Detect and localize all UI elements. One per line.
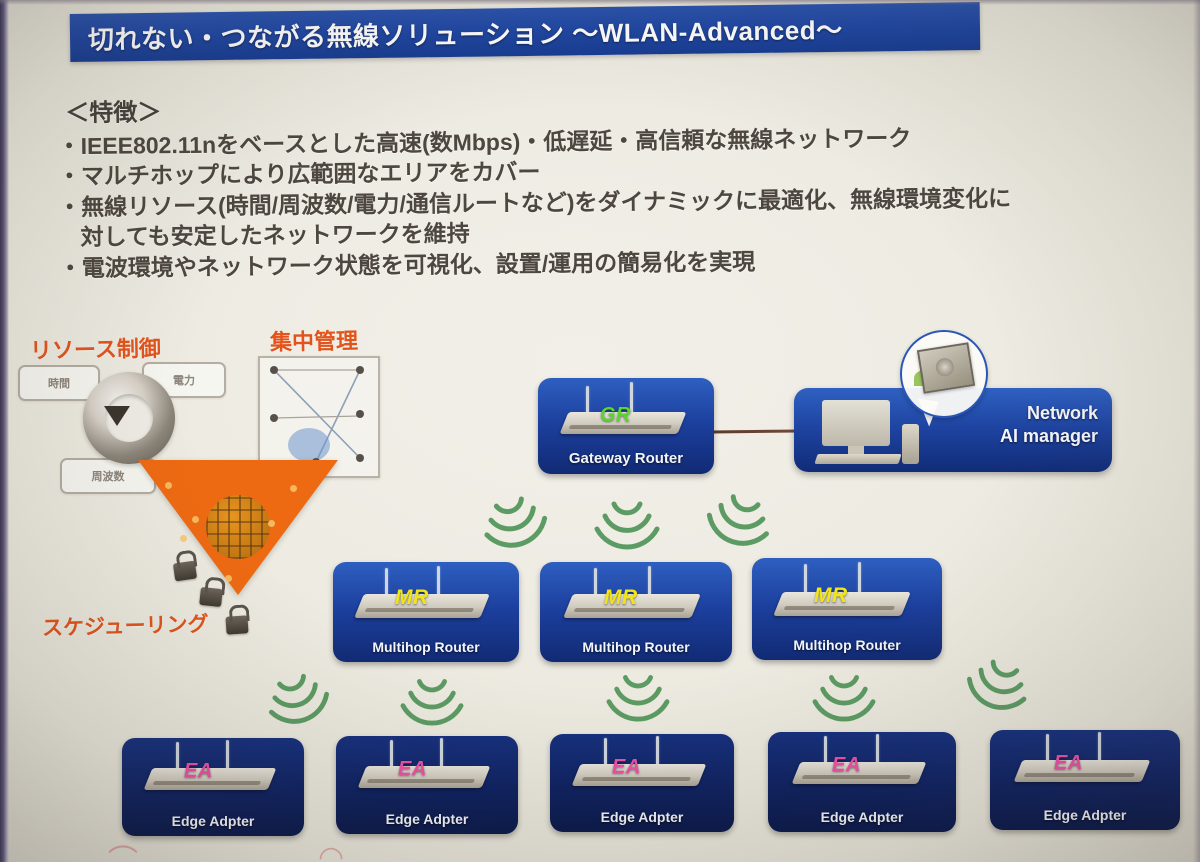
- router-icon: MR: [540, 562, 732, 639]
- spark-dot: [180, 535, 187, 542]
- spark-dot: [192, 516, 199, 523]
- slide-canvas: 切れない・つながる無線ソリューション ～WLAN-Advanced～ ＜特徴＞ …: [0, 0, 1200, 862]
- lock-icon: [199, 587, 223, 607]
- down-arrow-icon: [104, 406, 130, 426]
- node-label: Edge Adpter: [1044, 807, 1127, 830]
- router-icon: EA: [550, 734, 734, 809]
- annotation-mark: ⌒: [108, 836, 138, 862]
- node-tag: EA: [1054, 752, 1083, 775]
- speech-bubble: [900, 330, 988, 418]
- node-tag: MR: [814, 584, 848, 608]
- router-icon: GR: [538, 378, 714, 450]
- features-block: ＜特徴＞ ・IEEE802.11nをベースとした高速(数Mbps)・低遅延・高信…: [57, 83, 1149, 285]
- node-edge-adapter[interactable]: EA Edge Adpter: [768, 732, 956, 832]
- router-icon: EA: [768, 732, 956, 809]
- node-label: Multihop Router: [582, 639, 689, 662]
- wifi-signal-icon: [810, 662, 878, 722]
- wifi-signal-icon: [698, 475, 784, 556]
- spark-dot: [290, 485, 297, 492]
- scheduling-label: スケジューリング: [42, 608, 209, 642]
- wifi-signal-icon: [592, 488, 662, 550]
- node-multihop-router[interactable]: MR Multihop Router: [540, 562, 732, 662]
- router-icon: EA: [336, 736, 518, 811]
- router-icon: EA: [990, 730, 1180, 807]
- photo-edge-top: [0, 0, 1200, 5]
- router-icon: MR: [752, 558, 942, 637]
- node-multihop-router[interactable]: MR Multihop Router: [333, 562, 519, 662]
- node-label: Gateway Router: [569, 450, 683, 474]
- manager-label-line1: Network: [1000, 402, 1098, 425]
- title-banner: 切れない・つながる無線ソリューション ～WLAN-Advanced～: [70, 2, 981, 62]
- spark-dot: [165, 482, 172, 489]
- globe-icon: [206, 495, 270, 559]
- node-edge-adapter[interactable]: EA Edge Adpter: [990, 730, 1180, 830]
- lock-icon: [225, 615, 248, 634]
- node-multihop-router[interactable]: MR Multihop Router: [752, 558, 942, 660]
- node-tag: EA: [184, 760, 213, 783]
- node-tag: MR: [395, 586, 429, 610]
- photo-edge-left: [0, 0, 9, 862]
- wifi-signal-icon: [471, 478, 555, 557]
- wifi-signal-icon: [604, 662, 672, 722]
- node-label: Multihop Router: [793, 637, 900, 660]
- photo-edge-right: [1193, 0, 1200, 862]
- manager-label-group: Network AI manager: [1000, 402, 1098, 448]
- gateway-manager-link: [712, 430, 798, 434]
- node-tag: EA: [612, 756, 641, 779]
- spark-dot: [225, 575, 232, 582]
- visualization-card-icon: [917, 342, 975, 394]
- central-management-label: 集中管理: [270, 323, 359, 357]
- router-icon: EA: [122, 738, 304, 813]
- manager-label-line2: AI manager: [1000, 425, 1098, 448]
- annotation-mark: ◠: [318, 840, 344, 862]
- wifi-signal-icon: [958, 640, 1042, 720]
- wifi-signal-icon: [398, 666, 466, 726]
- node-edge-adapter[interactable]: EA Edge Adpter: [122, 738, 304, 836]
- computer-icon: [816, 400, 924, 468]
- node-edge-adapter[interactable]: EA Edge Adpter: [550, 734, 734, 832]
- node-tag: MR: [604, 586, 638, 610]
- node-label: Edge Adpter: [601, 809, 684, 832]
- features-heading: ＜特徴＞: [65, 83, 1147, 128]
- node-label: Edge Adpter: [386, 811, 469, 834]
- resource-control-label: リソース制御: [30, 331, 161, 365]
- node-label: Multihop Router: [372, 639, 479, 662]
- node-tag: GR: [600, 404, 631, 427]
- node-label: Edge Adpter: [821, 809, 904, 832]
- page-title: 切れない・つながる無線ソリューション ～WLAN-Advanced～: [88, 8, 968, 57]
- lock-icon: [173, 561, 197, 582]
- router-icon: MR: [333, 562, 519, 639]
- node-tag: EA: [398, 758, 427, 781]
- node-edge-adapter[interactable]: EA Edge Adpter: [336, 736, 518, 834]
- node-label: Edge Adpter: [172, 813, 255, 836]
- node-gateway-router[interactable]: GR Gateway Router: [538, 378, 714, 474]
- spark-dot: [268, 520, 275, 527]
- node-tag: EA: [832, 754, 861, 777]
